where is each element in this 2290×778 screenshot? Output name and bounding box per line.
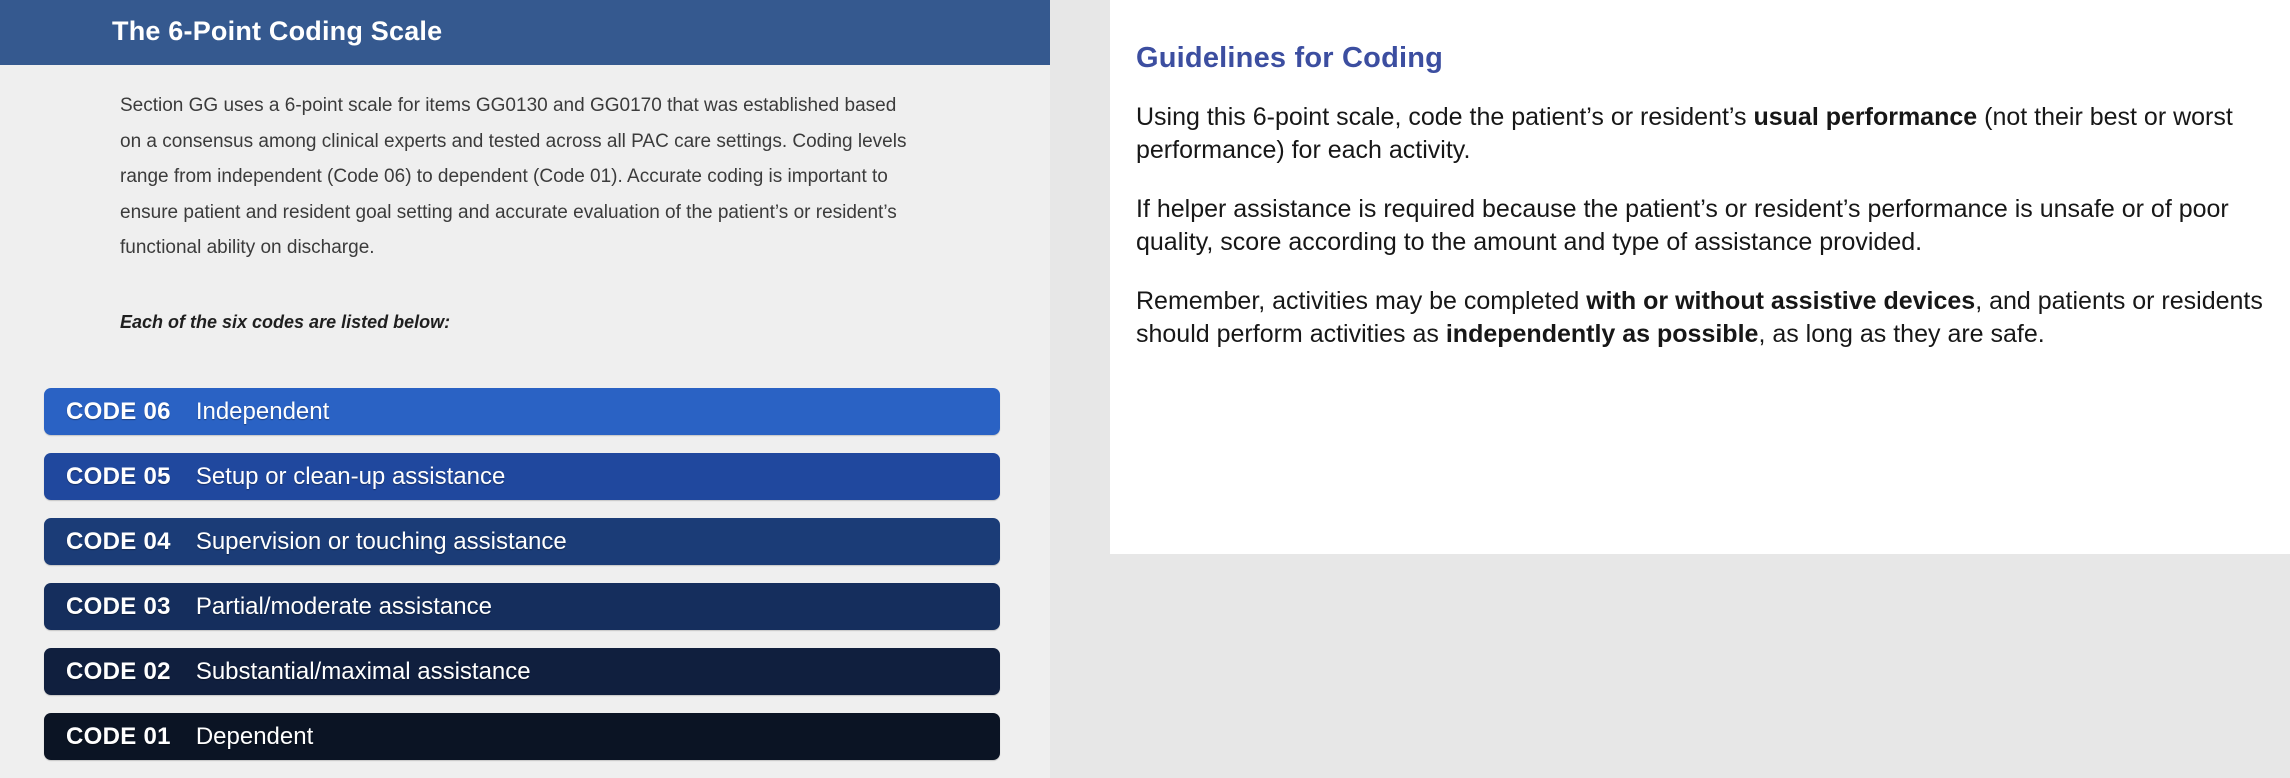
left-panel-header-bar: The 6-Point Coding Scale — [0, 0, 1050, 65]
code-label: Setup or clean-up assistance — [196, 463, 506, 491]
code-label: Substantial/maximal assistance — [196, 658, 531, 686]
code-label: Supervision or touching assistance — [196, 528, 567, 556]
code-label: Partial/moderate assistance — [196, 593, 492, 621]
code-bar-06[interactable]: CODE 06 Independent — [44, 388, 1000, 435]
guidelines-card: Guidelines for Coding Using this 6-point… — [1110, 0, 2290, 554]
guidelines-title: Guidelines for Coding — [1136, 42, 2272, 75]
code-number: CODE 02 — [66, 658, 171, 686]
code-bar-02[interactable]: CODE 02 Substantial/maximal assistance — [44, 648, 1000, 695]
code-bar-01[interactable]: CODE 01 Dependent — [44, 713, 1000, 760]
right-panel: Guidelines for Coding Using this 6-point… — [1050, 0, 2290, 778]
code-scale-list: CODE 06 Independent CODE 05 Setup or cle… — [44, 388, 1000, 760]
code-bar-04[interactable]: CODE 04 Supervision or touching assistan… — [44, 518, 1000, 565]
guidelines-paragraph-1: Using this 6-point scale, code the patie… — [1136, 101, 2272, 167]
code-label: Dependent — [196, 723, 313, 751]
code-bar-05[interactable]: CODE 05 Setup or clean-up assistance — [44, 453, 1000, 500]
code-label: Independent — [196, 398, 329, 426]
page-title: The 6-Point Coding Scale — [112, 0, 442, 65]
list-intro-text: Each of the six codes are listed below: — [120, 266, 920, 334]
slide-canvas: The 6-Point Coding Scale Section GG uses… — [0, 0, 2290, 778]
code-number: CODE 01 — [66, 723, 171, 751]
intro-paragraph: Section GG uses a 6-point scale for item… — [120, 88, 920, 266]
code-number: CODE 03 — [66, 593, 171, 621]
code-number: CODE 04 — [66, 528, 171, 556]
code-number: CODE 06 — [66, 398, 171, 426]
guidelines-card-content: Guidelines for Coding Using this 6-point… — [1136, 42, 2272, 351]
left-panel-body: Section GG uses a 6-point scale for item… — [120, 88, 920, 334]
left-panel: The 6-Point Coding Scale Section GG uses… — [0, 0, 1050, 778]
guidelines-paragraph-2: If helper assistance is required because… — [1136, 193, 2272, 259]
code-bar-03[interactable]: CODE 03 Partial/moderate assistance — [44, 583, 1000, 630]
code-number: CODE 05 — [66, 463, 171, 491]
guidelines-paragraph-3: Remember, activities may be completed wi… — [1136, 285, 2272, 351]
